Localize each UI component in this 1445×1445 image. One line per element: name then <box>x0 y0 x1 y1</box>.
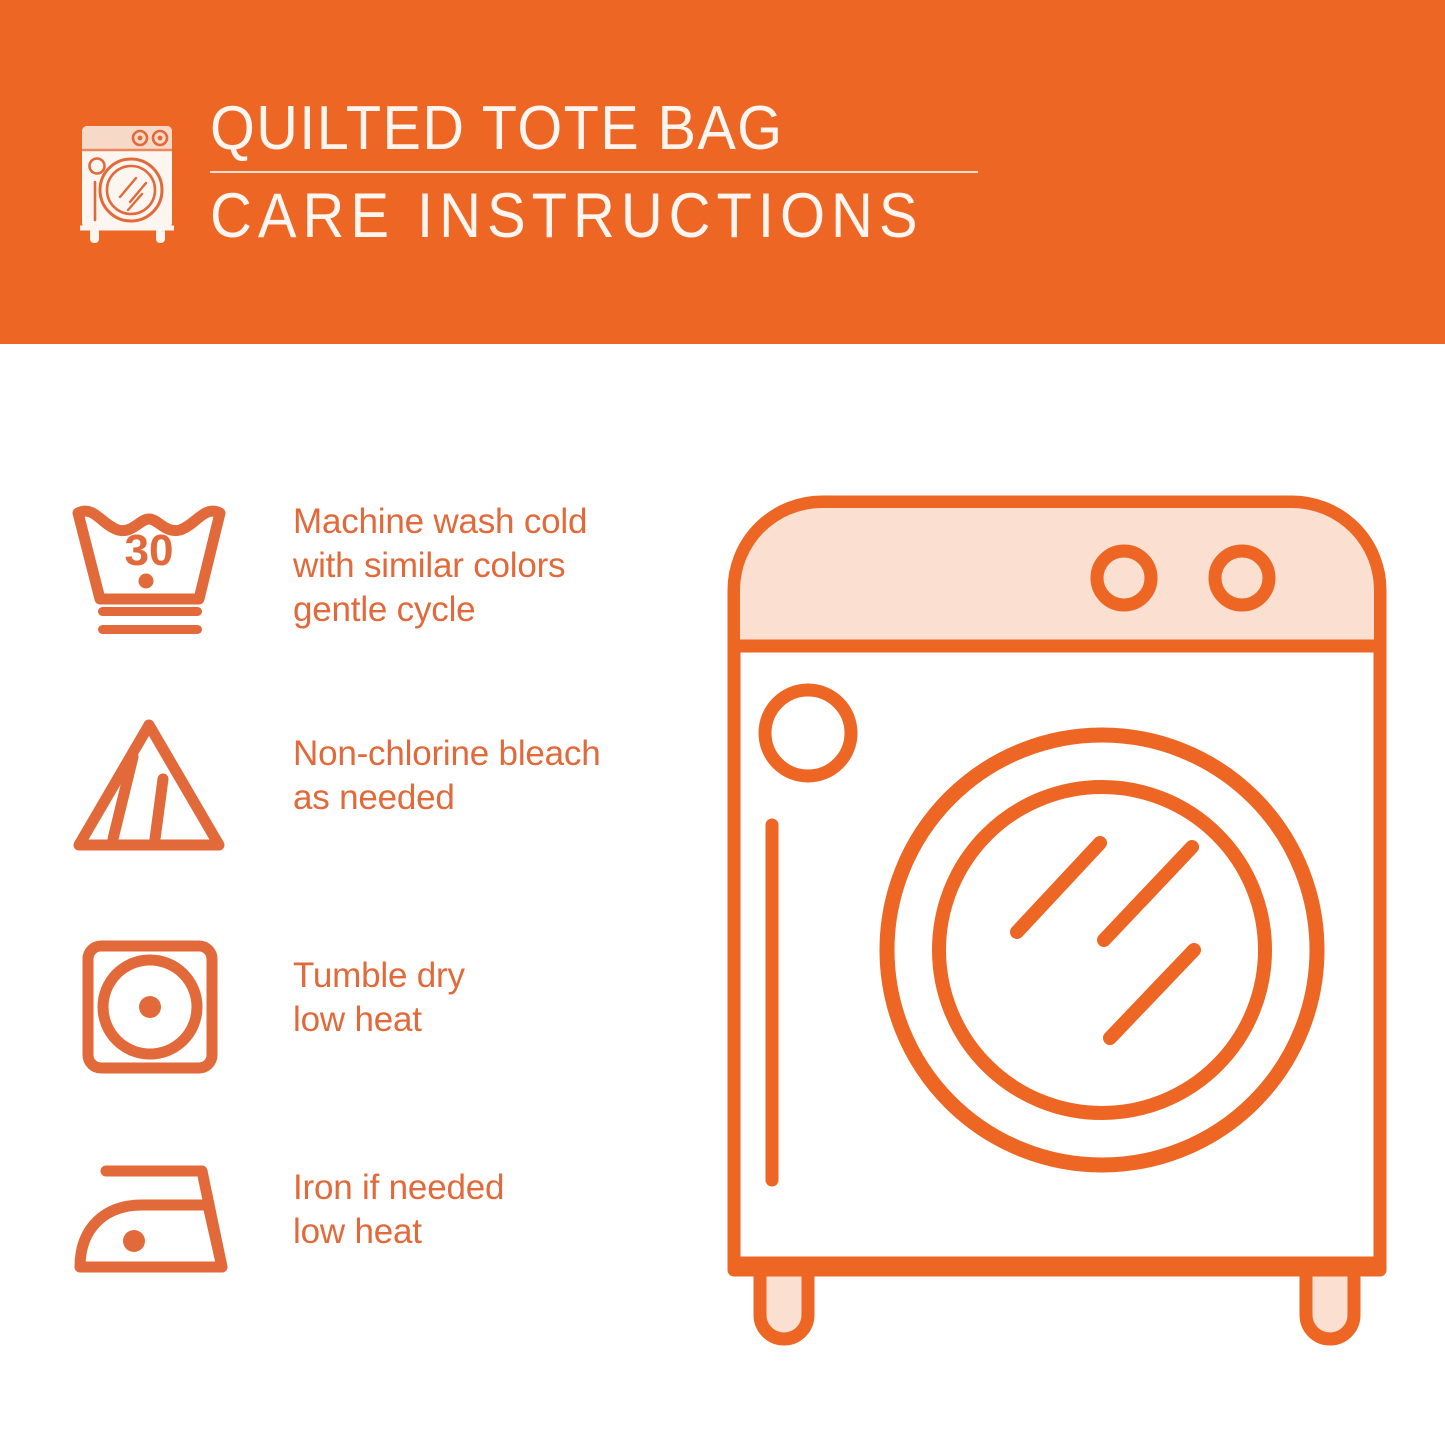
list-item: Iron if needed low heat <box>0 1144 700 1294</box>
washing-machine-icon <box>68 100 186 248</box>
care-line-2: low heat <box>293 1210 504 1254</box>
care-instructions-page: QUILTED TOTE BAG CARE INSTRUCTIONS 30 <box>0 0 1445 1445</box>
iron-icon <box>62 1144 237 1294</box>
care-instructions-list: 30 Machine wash cold with similar colors… <box>0 344 700 1445</box>
care-line-3: gentle cycle <box>293 588 587 632</box>
list-item: 30 Machine wash cold with similar colors… <box>0 494 700 644</box>
title-divider <box>210 171 978 173</box>
list-item-text: Tumble dry low heat <box>293 932 465 1042</box>
care-line-2: as needed <box>293 776 601 820</box>
list-item: Tumble dry low heat <box>0 932 700 1082</box>
wash-temperature-label: 30 <box>125 526 174 575</box>
bleach-triangle-icon <box>62 710 237 860</box>
tumble-dry-icon <box>62 932 237 1082</box>
header-band: QUILTED TOTE BAG CARE INSTRUCTIONS <box>0 0 1445 344</box>
list-item-text: Non-chlorine bleach as needed <box>293 710 601 820</box>
list-item: Non-chlorine bleach as needed <box>0 710 700 860</box>
care-line-1: Machine wash cold <box>293 500 587 544</box>
list-item-text: Machine wash cold with similar colors ge… <box>293 494 587 632</box>
care-line-1: Tumble dry <box>293 954 465 998</box>
header-titles: QUILTED TOTE BAG CARE INSTRUCTIONS <box>210 96 1050 250</box>
header-content: QUILTED TOTE BAG CARE INSTRUCTIONS <box>68 96 1068 256</box>
list-item-text: Iron if needed low heat <box>293 1144 504 1254</box>
care-line-1: Iron if needed <box>293 1166 504 1210</box>
care-line-1: Non-chlorine bleach <box>293 732 601 776</box>
page-subtitle: CARE INSTRUCTIONS <box>210 182 983 250</box>
care-line-2: with similar colors <box>293 544 587 588</box>
page-title: QUILTED TOTE BAG <box>210 96 991 162</box>
large-washing-machine-illustration <box>712 480 1402 1380</box>
wash-tub-30-icon: 30 <box>62 494 237 644</box>
care-line-2: low heat <box>293 998 465 1042</box>
